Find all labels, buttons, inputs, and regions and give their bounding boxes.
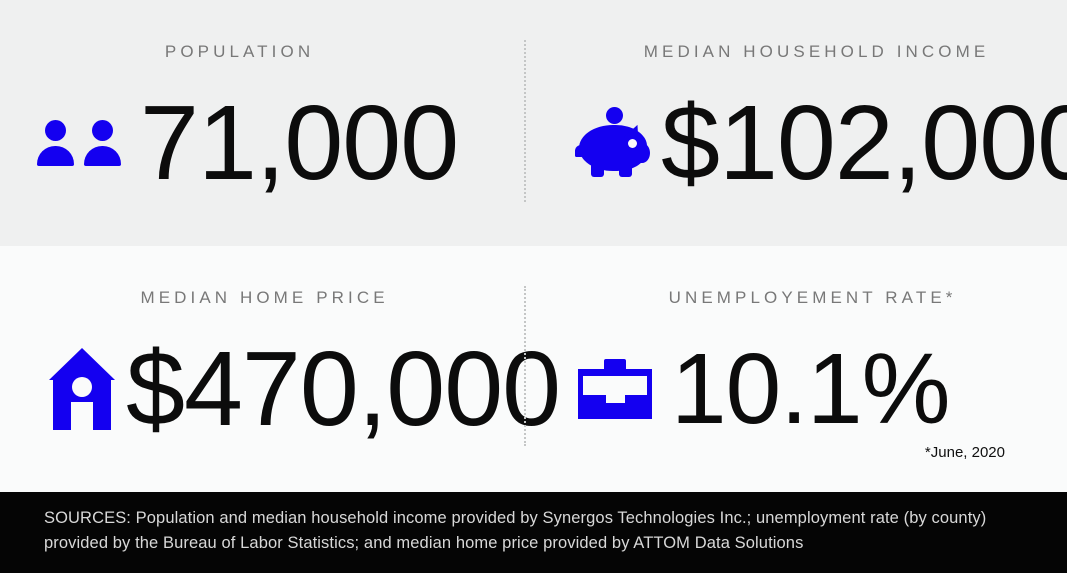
briefcase-clasp <box>606 392 625 403</box>
stat-label-population: POPULATION <box>0 42 533 62</box>
stat-card-median-household-income: MEDIAN HOUSEHOLD INCOME $102,000 <box>533 0 1066 246</box>
house-icon <box>49 348 115 430</box>
piggy-eye <box>628 139 637 148</box>
people-icon <box>37 120 123 166</box>
column-divider <box>524 40 526 202</box>
person-silhouette <box>37 120 74 166</box>
piggy-bank-icon <box>575 107 655 179</box>
icon-slot-population <box>20 88 140 198</box>
briefcase-icon <box>578 359 652 419</box>
sources-bar: SOURCES: Population and median household… <box>0 492 1067 573</box>
stat-card-population: POPULATION 71,000 <box>0 0 533 246</box>
person-body <box>84 146 121 166</box>
stats-infographic: POPULATION 71,000 <box>0 0 1067 573</box>
stat-row-top: POPULATION 71,000 <box>0 0 1067 246</box>
stat-row-bottom: MEDIAN HOME PRICE $470,000 UNEMPLOYEMENT… <box>0 246 1067 492</box>
icon-slot-unemployment-rate <box>555 334 675 444</box>
stat-value-population: 71,000 <box>140 90 458 196</box>
stat-label-median-household-income: MEDIAN HOUSEHOLD INCOME <box>533 42 1066 62</box>
stat-body-unemployment-rate: 10.1% <box>533 324 1066 454</box>
sources-text: SOURCES: Population and median household… <box>44 506 1027 556</box>
piggy-coin <box>606 107 623 124</box>
person-head <box>45 120 66 141</box>
stat-body-median-home-price: $470,000 <box>0 324 533 454</box>
piggy-snout <box>634 143 650 163</box>
stat-label-unemployment-rate: UNEMPLOYEMENT RATE* <box>533 288 1066 308</box>
person-head <box>92 120 113 141</box>
stat-value-unemployment-rate: 10.1% <box>671 339 950 439</box>
stat-card-median-home-price: MEDIAN HOME PRICE $470,000 <box>0 246 533 492</box>
piggy-leg <box>619 165 632 177</box>
person-body <box>37 146 74 166</box>
house-door <box>71 402 93 430</box>
piggy-ear <box>624 123 642 141</box>
column-divider <box>524 286 526 446</box>
house-roof <box>49 348 115 380</box>
stat-body-median-household-income: $102,000 <box>533 78 1066 208</box>
stat-label-median-home-price: MEDIAN HOME PRICE <box>0 288 533 308</box>
person-silhouette <box>84 120 121 166</box>
stat-value-median-household-income: $102,000 <box>661 90 1067 196</box>
footnote-date: *June, 2020 <box>925 444 1005 461</box>
icon-slot-median-home-price <box>22 334 142 444</box>
house-window <box>72 377 92 397</box>
stat-body-population: 71,000 <box>0 78 533 208</box>
stat-value-median-home-price: $470,000 <box>126 336 560 442</box>
icon-slot-median-household-income <box>555 88 675 198</box>
piggy-leg <box>591 165 604 177</box>
